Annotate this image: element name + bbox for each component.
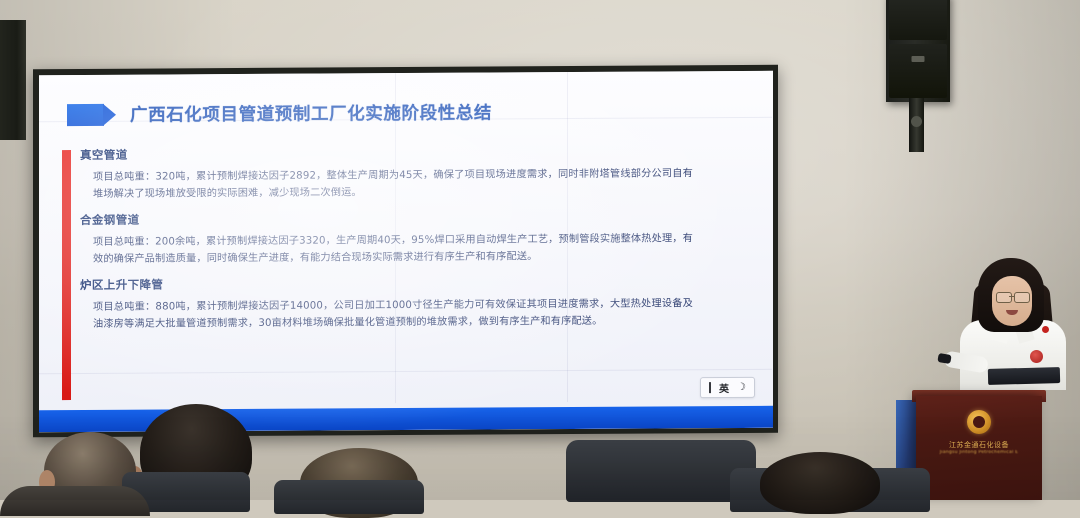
presenter-pointer-device [937,353,951,364]
podium-laptop [988,367,1060,385]
wall-dark-panel [0,20,26,140]
eyeglasses-icon [1014,292,1030,303]
presentation-slide: 广西石化项目管道预制工厂化实施阶段性总结 真空管道 项目总吨重：320吨，累计预… [39,71,773,432]
ime-status-tray[interactable]: 英 ☽ [700,377,755,398]
block-heading: 炉区上升下降管 [80,273,755,293]
conference-room: 广西石化项目管道预制工厂化实施阶段性总结 真空管道 项目总吨重：320吨，累计预… [0,0,1080,500]
slide-content: 真空管道 项目总吨重：320吨，累计预制焊接达因子2892，整体生产周期为45天… [80,143,755,342]
speaker-badge [912,56,925,62]
speaker-mount-bracket [909,98,924,152]
chair-back [566,440,756,502]
block-heading: 真空管道 [80,143,755,163]
eyeglasses-icon [996,292,1012,303]
slide-title-row: 广西石化项目管道预制工厂化实施阶段性总结 [67,99,492,127]
content-block: 真空管道 项目总吨重：320吨，累计预制焊接达因子2892，整体生产周期为45天… [80,143,755,203]
podium: 江苏金通石化设备 Jiangsu Jintong Petrochemical E [916,396,1042,500]
eyeglasses-bridge [1009,296,1015,297]
arrow-marker-icon [67,103,116,125]
speaker-grille-lower [889,44,947,98]
block-body: 项目总吨重：320吨，累计预制焊接达因子2892，整体生产周期为45天，确保了项… [80,166,693,203]
content-block: 炉区上升下降管 项目总吨重：880吨，累计预制焊接达因子14000，公司日加工1… [80,273,755,333]
content-block: 合金钢管道 项目总吨重：200余吨，累计预制焊接达因子3320，生产周期40天，… [80,208,755,268]
audience-shoulders [0,486,150,516]
slide-gridline [39,369,772,374]
block-body: 项目总吨重：880吨，累计预制焊接达因子14000，公司日加工1000寸径生产能… [80,296,693,333]
projection-screen: 广西石化项目管道预制工厂化实施阶段性总结 真空管道 项目总吨重：320吨，累计预… [39,71,773,432]
company-logo-icon [967,410,991,434]
audience-head [760,452,880,514]
chair-back [274,480,424,514]
page-title: 广西石化项目管道预制工厂化实施阶段性总结 [130,99,492,126]
podium-org-name-cn: 江苏金通石化设备 [916,440,1042,450]
block-body: 项目总吨重：200余吨，累计预制焊接达因子3320，生产周期40天，95%焊口采… [80,231,693,268]
presenter-lapel-pin [1042,326,1049,333]
moon-icon[interactable]: ☽ [737,382,746,393]
block-heading: 合金钢管道 [80,208,755,228]
presenter-badge [1030,350,1043,363]
projection-screen-frame: 广西石化项目管道预制工厂化实施阶段性总结 真空管道 项目总吨重：320吨，累计预… [33,65,778,438]
ime-mode-label[interactable]: 英 [719,380,729,395]
speaker-grille-upper [889,0,947,40]
text-cursor-icon [709,382,711,393]
podium-org-name-en: Jiangsu Jintong Petrochemical E [916,450,1042,455]
loudspeaker-icon [886,0,950,102]
red-accent-rail [62,150,71,400]
